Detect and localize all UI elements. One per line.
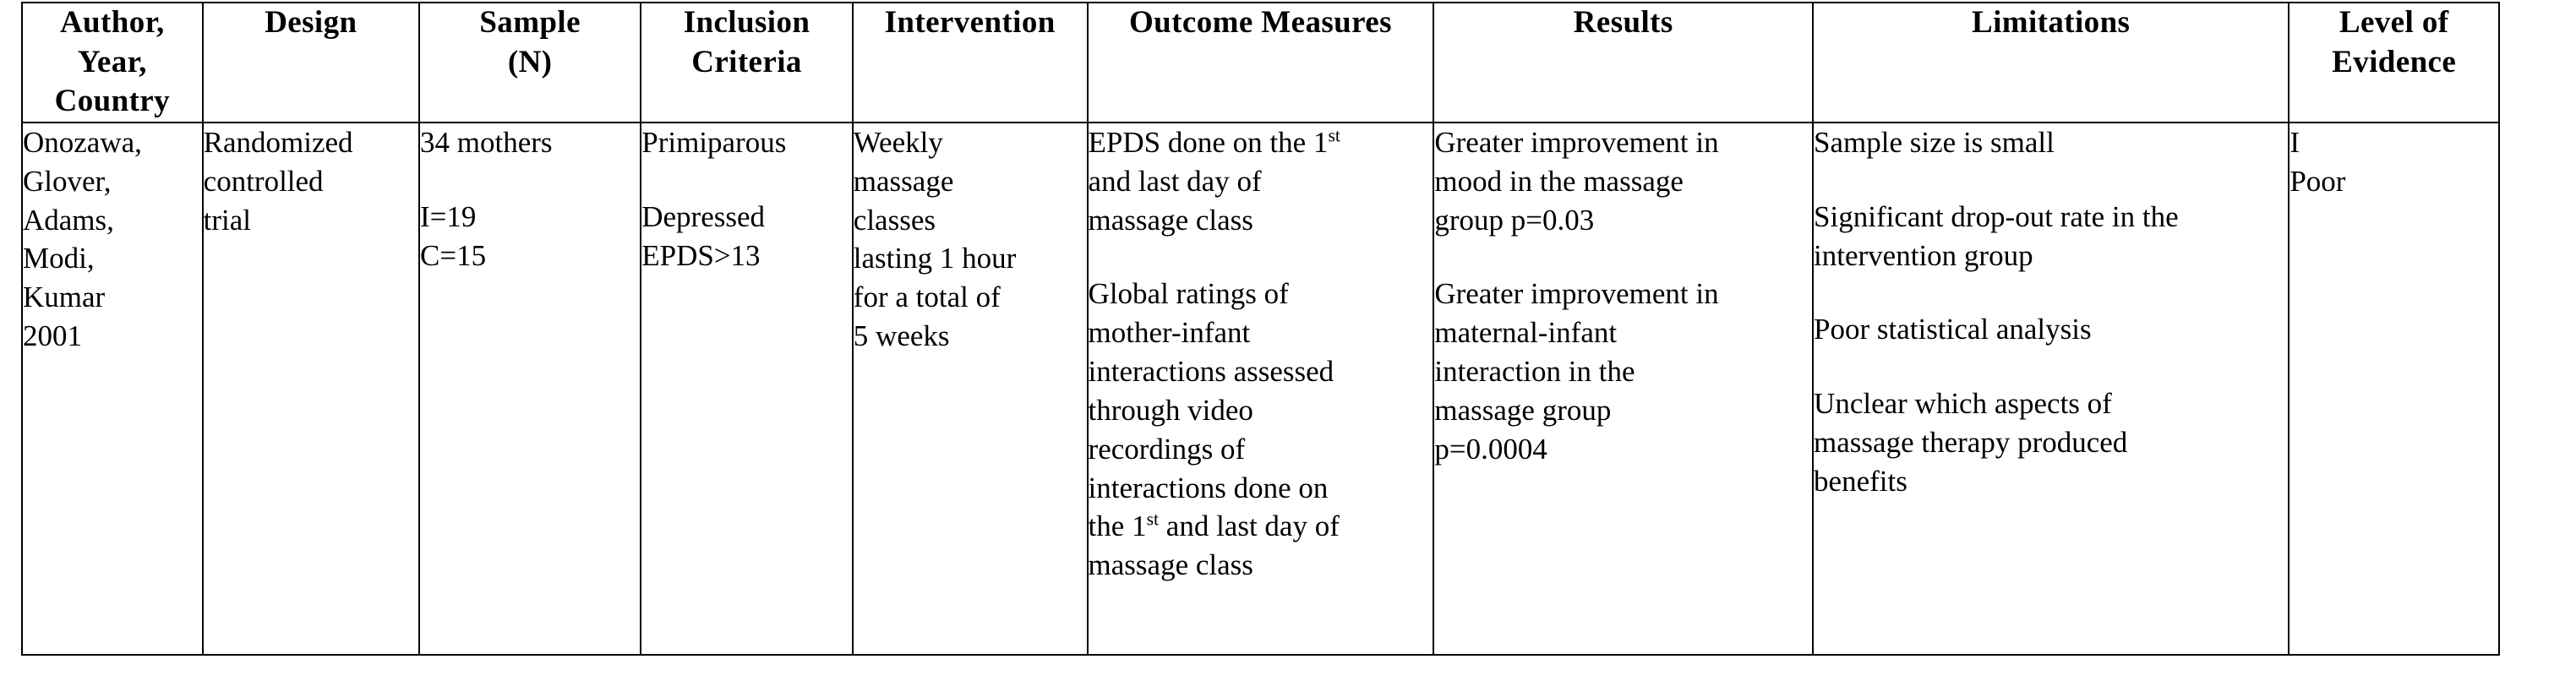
cell-line: Significant drop-out rate in the	[1814, 198, 2288, 237]
cell-line: massage class	[1089, 201, 1433, 240]
cell-line: I=19	[420, 198, 640, 237]
column-header-inclusion: InclusionCriteria	[641, 3, 853, 123]
cell-line: Poor statistical analysis	[1814, 310, 2288, 349]
column-header-line: Design	[204, 3, 418, 43]
cell-line: recordings of	[1089, 430, 1433, 469]
column-header-limitations: Limitations	[1813, 3, 2289, 123]
cell-inclusion: PrimiparousDepressedEPDS>13	[641, 123, 853, 655]
cell-line: interactions done on	[1089, 469, 1433, 508]
column-header-level: Level ofEvidence	[2289, 3, 2499, 123]
column-header-author: Author,Year,Country	[22, 3, 203, 123]
cell-line: Glover,	[23, 162, 202, 201]
table-header: Author,Year,CountryDesignSample(N)Inclus…	[22, 3, 2499, 123]
cell-line: massage class	[1089, 546, 1433, 585]
cell-sample: 34 mothersI=19C=15	[419, 123, 641, 655]
cell-line: benefits	[1814, 462, 2288, 501]
paragraph-gap	[641, 162, 852, 198]
paragraph-gap	[1814, 275, 2288, 310]
cell-line: Kumar	[23, 278, 202, 317]
cell-line: I	[2289, 123, 2498, 162]
cell-line: and last day of	[1089, 162, 1433, 201]
cell-line: Depressed	[641, 198, 852, 237]
cell-line: Greater improvement in	[1434, 123, 1812, 162]
cell-line: Primiparous	[641, 123, 852, 162]
table-row: Onozawa,Glover,Adams,Modi,Kumar2001Rando…	[22, 123, 2499, 655]
cell-design: Randomizedcontrolledtrial	[203, 123, 419, 655]
cell-line: p=0.0004	[1434, 430, 1812, 469]
cell-line: controlled	[204, 162, 418, 201]
paragraph-gap	[1814, 162, 2288, 198]
cell-line: 5 weeks	[854, 317, 1087, 356]
cell-line: massage group	[1434, 391, 1812, 430]
cell-line: Modi,	[23, 239, 202, 278]
paragraph-gap	[420, 162, 640, 198]
column-header-line: (N)	[420, 43, 640, 83]
cell-line: Sample size is small	[1814, 123, 2288, 162]
column-header-line: Year,	[23, 43, 202, 83]
column-header-results: Results	[1433, 3, 1813, 123]
cell-results: Greater improvement inmood in the massag…	[1433, 123, 1813, 655]
cell-line: interaction in the	[1434, 352, 1812, 391]
cell-line: classes	[854, 201, 1087, 240]
cell-outcome: EPDS done on the 1stand last day ofmassa…	[1088, 123, 1434, 655]
document-page: Author,Year,CountryDesignSample(N)Inclus…	[0, 0, 2576, 681]
cell-line: Unclear which aspects of	[1814, 384, 2288, 423]
paragraph-gap	[1089, 239, 1433, 275]
table-body: Onozawa,Glover,Adams,Modi,Kumar2001Rando…	[22, 123, 2499, 655]
cell-line: Adams,	[23, 201, 202, 240]
cell-line: mood in the massage	[1434, 162, 1812, 201]
cell-line: maternal-infant	[1434, 313, 1812, 352]
evidence-table: Author,Year,CountryDesignSample(N)Inclus…	[21, 2, 2500, 656]
column-header-line: Country	[23, 82, 202, 122]
column-header-line: Results	[1434, 3, 1812, 43]
cell-line: C=15	[420, 237, 640, 275]
cell-line: mother-infant	[1089, 313, 1433, 352]
column-header-line: Criteria	[641, 43, 852, 83]
cell-intervention: Weeklymassageclasseslasting 1 hourfor a …	[853, 123, 1088, 655]
cell-line: 2001	[23, 317, 202, 356]
cell-line: EPDS>13	[641, 237, 852, 275]
column-header-sample: Sample(N)	[419, 3, 641, 123]
ordinal-superscript: st	[1147, 509, 1159, 530]
cell-line: lasting 1 hour	[854, 239, 1087, 278]
column-header-design: Design	[203, 3, 419, 123]
column-header-line: Evidence	[2289, 43, 2498, 83]
cell-line: through video	[1089, 391, 1433, 430]
cell-line: Greater improvement in	[1434, 275, 1812, 313]
cell-author: Onozawa,Glover,Adams,Modi,Kumar2001	[22, 123, 203, 655]
column-header-line: Outcome Measures	[1089, 3, 1433, 43]
column-header-line: Limitations	[1814, 3, 2288, 43]
cell-line: 34 mothers	[420, 123, 640, 162]
cell-limitations: Sample size is smallSignificant drop-out…	[1813, 123, 2289, 655]
column-header-line: Sample	[420, 3, 640, 43]
column-header-intervention: Intervention	[853, 3, 1088, 123]
paragraph-gap	[1434, 239, 1812, 275]
cell-line: intervention group	[1814, 237, 2288, 275]
cell-line: for a total of	[854, 278, 1087, 317]
cell-level: IPoor	[2289, 123, 2499, 655]
header-row: Author,Year,CountryDesignSample(N)Inclus…	[22, 3, 2499, 123]
cell-line: EPDS done on the 1st	[1089, 123, 1433, 162]
cell-line: Global ratings of	[1089, 275, 1433, 313]
ordinal-superscript: st	[1328, 125, 1340, 145]
cell-line: Onozawa,	[23, 123, 202, 162]
cell-line: interactions assessed	[1089, 352, 1433, 391]
paragraph-gap	[1814, 349, 2288, 384]
cell-line: trial	[204, 201, 418, 240]
cell-line: Poor	[2289, 162, 2498, 201]
column-header-line: Author,	[23, 3, 202, 43]
column-header-outcome: Outcome Measures	[1088, 3, 1434, 123]
cell-line: Weekly	[854, 123, 1087, 162]
cell-line: Randomized	[204, 123, 418, 162]
column-header-line: Intervention	[854, 3, 1087, 43]
column-header-line: Inclusion	[641, 3, 852, 43]
cell-line: the 1st and last day of	[1089, 507, 1433, 546]
cell-line: group p=0.03	[1434, 201, 1812, 240]
cell-line: massage	[854, 162, 1087, 201]
column-header-line: Level of	[2289, 3, 2498, 43]
cell-line: massage therapy produced	[1814, 423, 2288, 462]
